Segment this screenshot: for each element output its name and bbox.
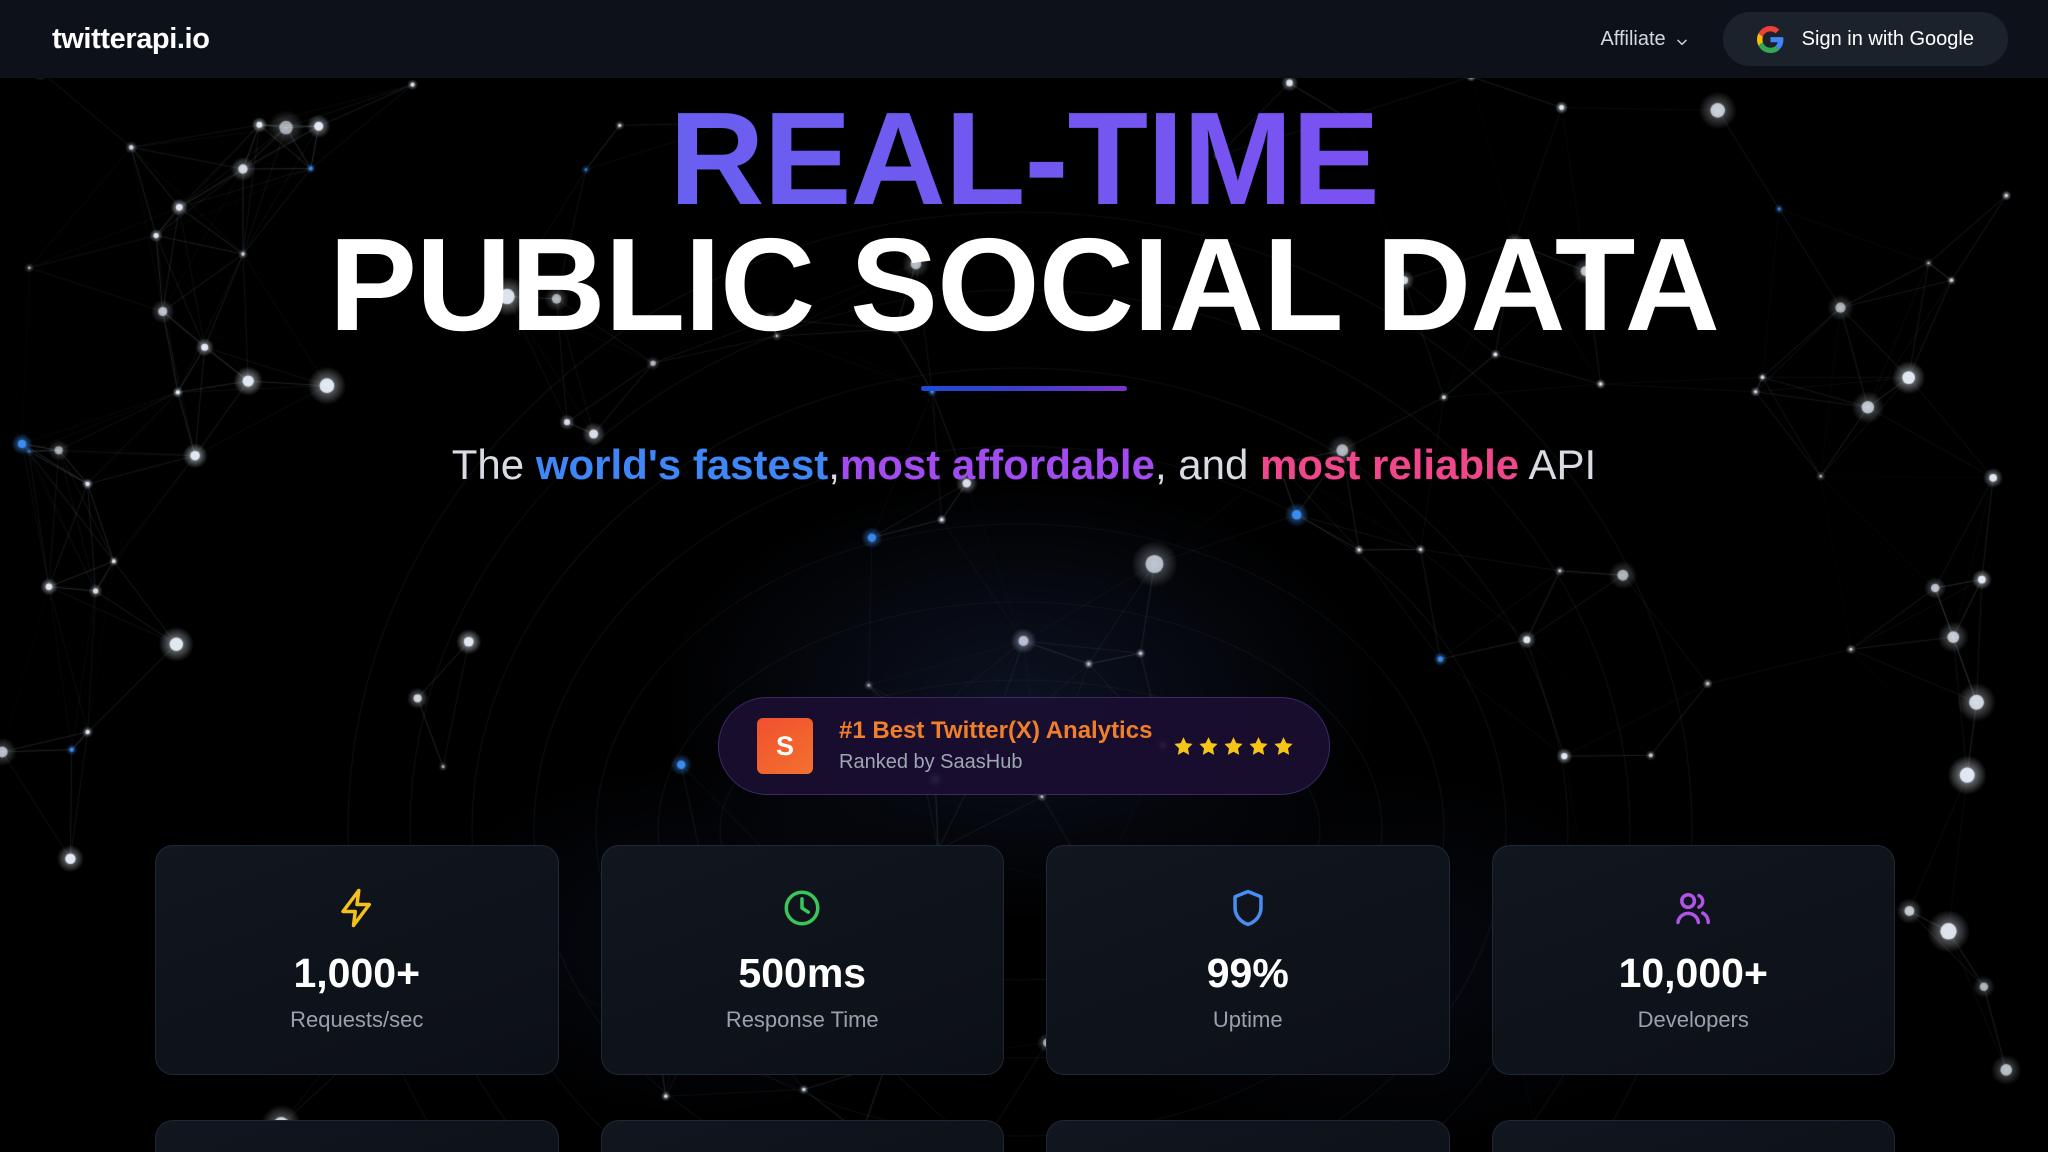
users-icon [1672,886,1714,930]
google-button-label: Sign in with Google [1802,28,1974,51]
stat-card-uptime[interactable]: 99%Uptime [1046,845,1450,1075]
badge-subtitle: Ranked by SaasHub [839,748,1152,776]
hero-divider [921,386,1127,391]
stat-card-developers[interactable]: 10,000+Developers [1492,845,1896,1075]
saashub-logo-icon: S [757,718,813,774]
lightning-bolt-icon [336,886,378,930]
subtitle-highlight-reliable: most reliable [1260,441,1519,488]
shield-icon [1227,886,1269,930]
site-header: twitterapi.io Affiliate [0,0,2048,78]
subtitle-highlight-affordable: most affordable [840,441,1155,488]
badge-title: #1 Best Twitter(X) Analytics [839,716,1152,746]
stat-card-response-time[interactable]: 500msResponse Time [601,845,1005,1075]
hero-title-line-2: PUBLIC SOCIAL DATA [0,224,2048,346]
feature-card[interactable] [1046,1120,1450,1152]
feature-card[interactable] [601,1120,1005,1152]
star-icon [1197,735,1220,758]
badge-text-block: #1 Best Twitter(X) Analytics Ranked by S… [839,716,1152,776]
hero-subtitle: The world's fastest,most affordable, and… [379,435,1669,494]
subtitle-part-3: , and [1155,441,1260,488]
feature-card[interactable] [155,1120,559,1152]
feature-cards-row-partial [155,1120,1895,1152]
star-icon [1222,735,1245,758]
subtitle-highlight-fastest: world's fastest [536,441,828,488]
header-actions: Affiliate Sign in with Google [1596,12,2008,66]
chevron-down-icon [1675,32,1689,46]
affiliate-label: Affiliate [1600,28,1665,51]
sign-in-with-google-button[interactable]: Sign in with Google [1723,12,2008,66]
stat-card-requests-sec[interactable]: 1,000+Requests/sec [155,845,559,1075]
stat-value: 500ms [738,949,866,997]
affiliate-menu[interactable]: Affiliate [1596,22,1692,57]
star-icon [1247,735,1270,758]
stat-value: 1,000+ [293,949,420,997]
stat-value: 99% [1207,949,1289,997]
hero-section: REAL-TIME PUBLIC SOCIAL DATA The world's… [0,78,2048,494]
star-icon [1272,735,1295,758]
hero-title-line-1: REAL-TIME [0,78,2048,218]
logo[interactable]: twitterapi.io [52,23,210,56]
saashub-badge[interactable]: S #1 Best Twitter(X) Analytics Ranked by… [718,697,1330,795]
subtitle-part-4: API [1519,441,1596,488]
subtitle-part-1: The [452,441,536,488]
feature-card[interactable] [1492,1120,1896,1152]
subtitle-part-2: , [828,441,840,488]
stat-label: Requests/sec [290,1006,423,1034]
clock-icon [781,886,823,930]
stats-row: 1,000+Requests/sec500msResponse Time99%U… [155,845,1895,1075]
star-icon [1172,735,1195,758]
stat-label: Uptime [1213,1006,1283,1034]
stat-label: Developers [1638,1006,1749,1034]
stat-label: Response Time [726,1006,879,1034]
stat-value: 10,000+ [1619,949,1768,997]
google-g-icon [1757,26,1784,53]
page-root: twitterapi.io Affiliate [0,0,2048,1152]
badge-star-rating [1156,735,1295,758]
